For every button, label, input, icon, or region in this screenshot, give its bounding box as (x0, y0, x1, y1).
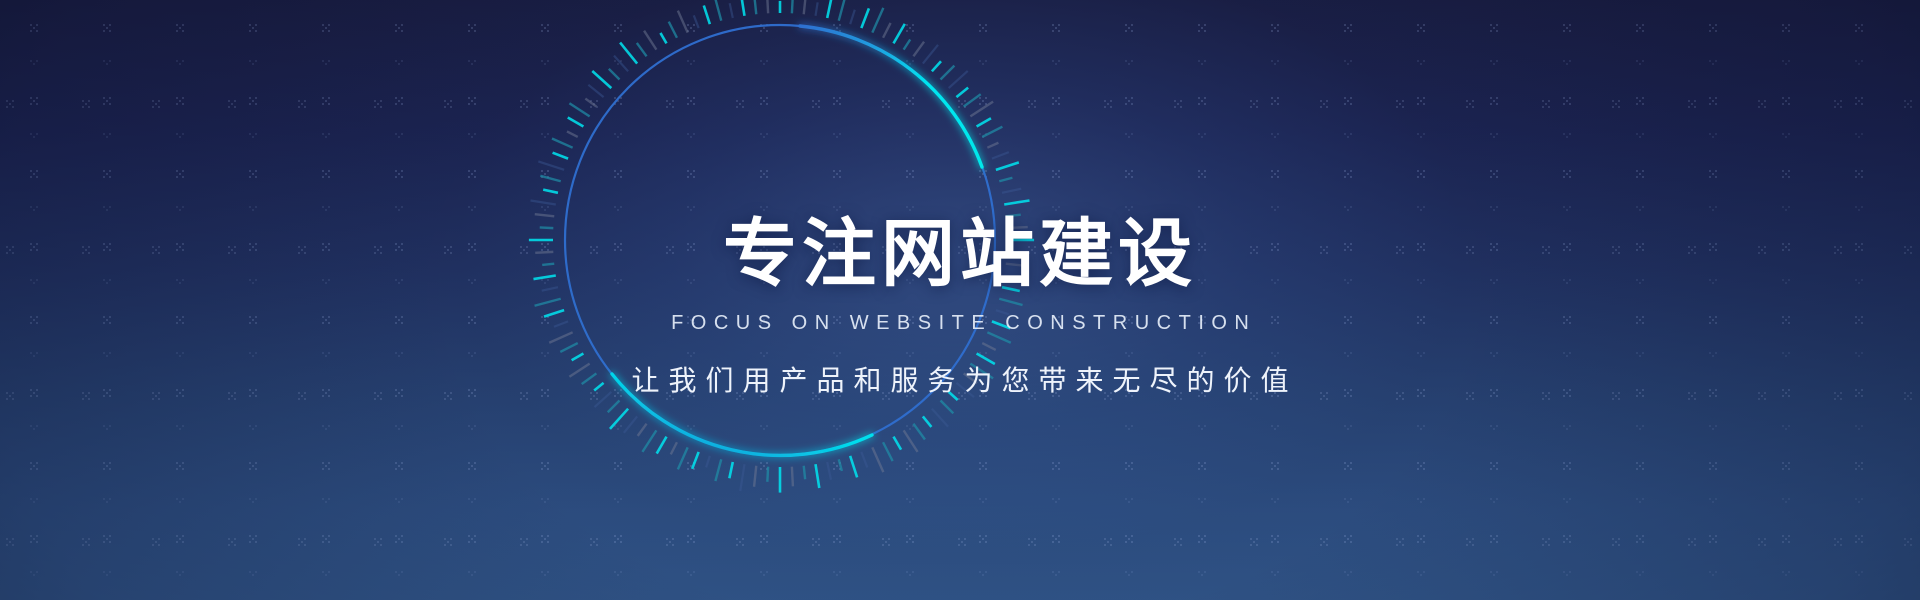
banner-content: 专注网站建设 FOCUS ON WEBSITE CONSTRUCTION 让我们… (0, 0, 1920, 600)
subtitle-english: FOCUS ON WEBSITE CONSTRUCTION (664, 312, 1257, 335)
hero-banner: 专注网站建设 FOCUS ON WEBSITE CONSTRUCTION 让我们… (0, 0, 1920, 600)
page-title: 专注网站建设 (723, 215, 1197, 295)
tagline-chinese: 让我们用产品和服务为您带来无尽的价值 (622, 359, 1297, 399)
